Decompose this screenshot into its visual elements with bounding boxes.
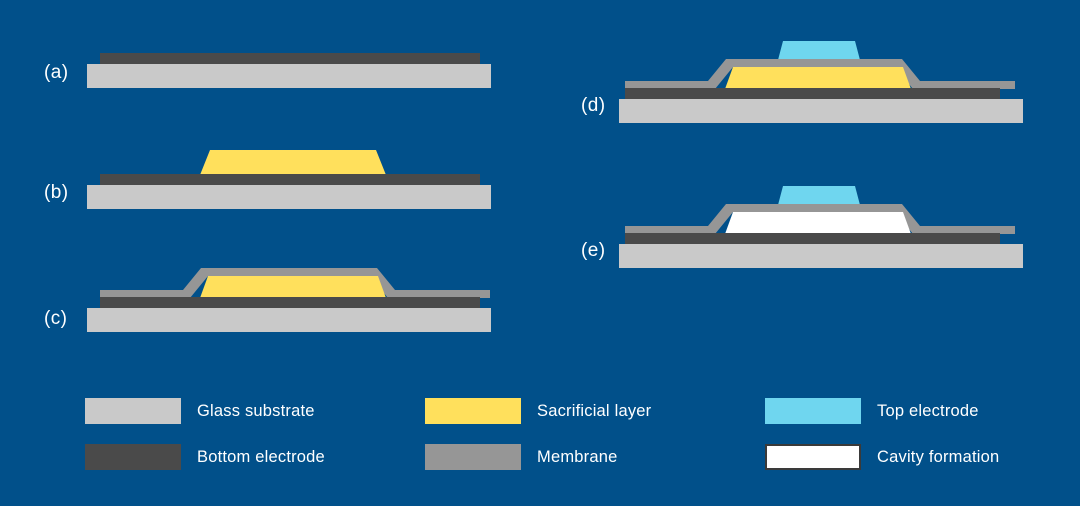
top-electrode-layer [778, 186, 860, 205]
legend-swatch-glass-substrate [85, 398, 181, 424]
legend-label-sacrificial-layer: Sacrificial layer [537, 402, 651, 421]
legend-swatch-cavity-formation [765, 444, 861, 470]
legend-item-bottom-electrode: Bottom electrode [85, 444, 425, 470]
legend-swatch-top-electrode [765, 398, 861, 424]
legend-item-cavity-formation: Cavity formation [765, 444, 1035, 470]
legend-swatch-bottom-electrode [85, 444, 181, 470]
legend: Glass substrate Sacrificial layer Top el… [85, 388, 1035, 480]
legend-item-sacrificial-layer: Sacrificial layer [425, 398, 765, 424]
glass-substrate-layer [87, 308, 491, 332]
legend-swatch-sacrificial-layer [425, 398, 521, 424]
legend-item-top-electrode: Top electrode [765, 398, 1035, 424]
glass-substrate-layer [619, 244, 1023, 268]
panel-e-diagram [0, 0, 1080, 290]
cavity-formation-region [725, 212, 911, 234]
process-flow-figure: (a) (b) (c) (d) [0, 0, 1080, 506]
legend-item-membrane: Membrane [425, 444, 765, 470]
legend-label-cavity-formation: Cavity formation [877, 448, 999, 467]
legend-label-membrane: Membrane [537, 448, 617, 467]
legend-swatch-membrane [425, 444, 521, 470]
bottom-electrode-layer [100, 297, 480, 308]
bottom-electrode-layer [625, 233, 1000, 244]
legend-item-glass-substrate: Glass substrate [85, 398, 425, 424]
legend-label-bottom-electrode: Bottom electrode [197, 448, 325, 467]
legend-label-top-electrode: Top electrode [877, 402, 979, 421]
legend-label-glass-substrate: Glass substrate [197, 402, 315, 421]
